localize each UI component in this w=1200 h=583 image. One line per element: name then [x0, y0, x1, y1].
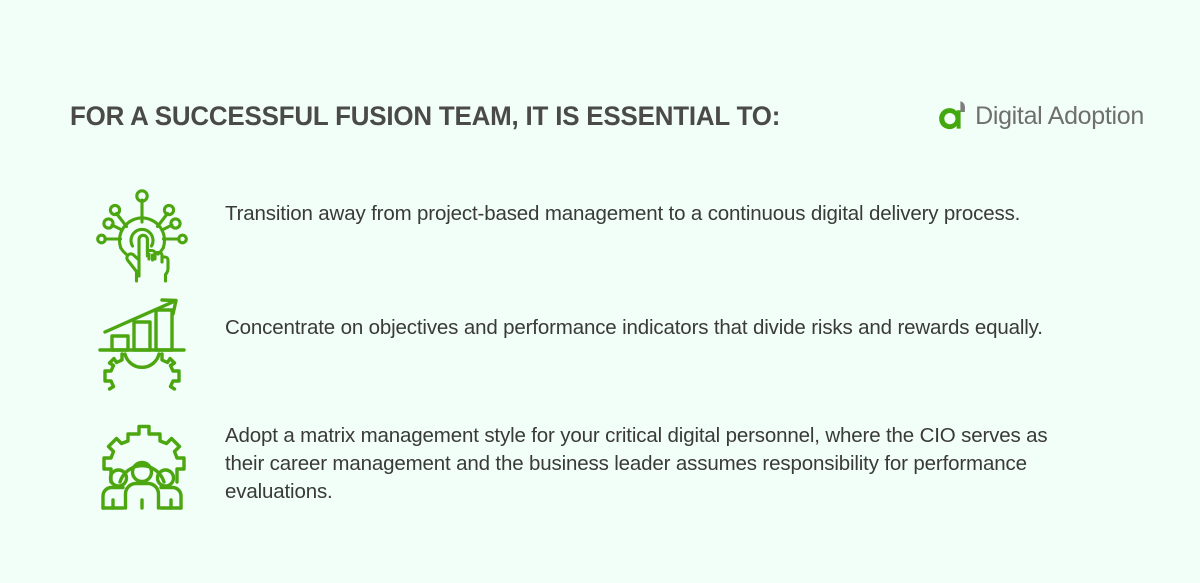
list-item-text: Transition away from project-based manag…	[196, 184, 1055, 228]
list-item: Concentrate on objectives and performanc…	[88, 292, 1140, 392]
team-people-gear-icon	[88, 412, 196, 512]
list-item: Transition away from project-based manag…	[88, 184, 1140, 284]
list-item: Adopt a matrix management style for your…	[88, 412, 1140, 512]
page-title: FOR A SUCCESSFUL FUSION TEAM, IT IS ESSE…	[70, 103, 780, 130]
digital-adoption-a-mark-icon	[936, 99, 970, 133]
list-item-text: Adopt a matrix management style for your…	[196, 412, 1055, 506]
header: FOR A SUCCESSFUL FUSION TEAM, IT IS ESSE…	[70, 92, 1144, 140]
list-item-text: Concentrate on objectives and performanc…	[196, 292, 1055, 342]
infographic-page: FOR A SUCCESSFUL FUSION TEAM, IT IS ESSE…	[0, 0, 1200, 583]
brand-logo-text: Digital Adoption	[975, 104, 1144, 129]
network-touch-hand-icon	[88, 184, 196, 284]
brand-logo: Digital Adoption	[936, 99, 1144, 133]
growth-bar-chart-gear-icon	[88, 292, 196, 392]
